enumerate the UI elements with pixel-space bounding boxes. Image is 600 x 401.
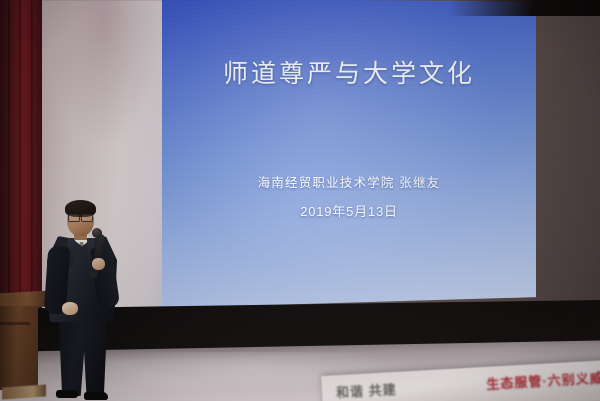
slide-institution-and-speaker: 海南经贸职业技术学院 张继友 xyxy=(258,172,441,191)
speaker-figure xyxy=(34,198,138,401)
speaker-shoe-right xyxy=(84,392,108,400)
podium-body xyxy=(0,306,38,390)
speaker-hand-left xyxy=(62,302,78,315)
slide-date: 2019年5月13日 xyxy=(300,201,398,220)
event-banner-left-text: 和谐 共建 xyxy=(335,379,397,401)
speaker-hand-right xyxy=(92,258,105,270)
glasses-icon xyxy=(68,214,93,221)
podium-shelf-edge xyxy=(0,322,30,325)
speaker-trousers xyxy=(54,316,112,396)
slide-content: 师道尊严与大学文化 海南经贸职业技术学院 张继友 2019年5月13日 xyxy=(162,0,536,308)
ceiling-shadow xyxy=(450,0,600,16)
slide-title: 师道尊严与大学文化 xyxy=(223,54,475,90)
projection-screen: 师道尊严与大学文化 海南经贸职业技术学院 张继友 2019年5月13日 xyxy=(162,0,536,308)
event-banner-text: 和谐 共建 生态服管·六别义威 xyxy=(335,367,600,401)
wall-light-glow xyxy=(44,0,164,150)
event-banner-right-text: 生态服管·六别义威 xyxy=(486,367,600,393)
presentation-photo-scene: 师道尊严与大学文化 海南经贸职业技术学院 张继友 2019年5月13日 xyxy=(0,0,600,401)
speaker-shoe-left xyxy=(56,390,78,398)
